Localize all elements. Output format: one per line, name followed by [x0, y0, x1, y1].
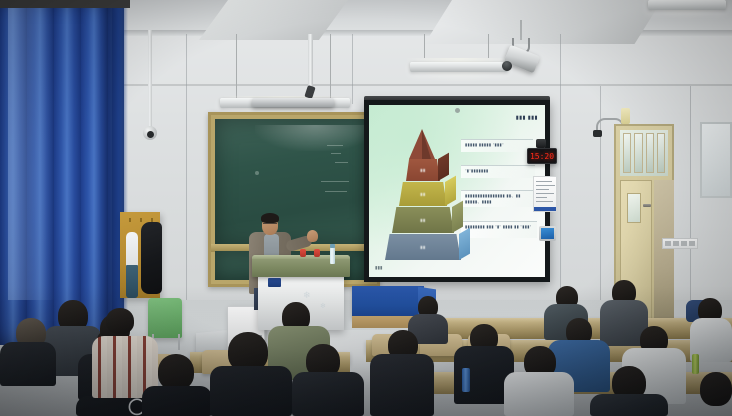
pyramid-tier-4: ▮▮ [385, 234, 461, 260]
pyramid-tier-2: ▮▮ [399, 182, 447, 206]
chalkboard-lamp [252, 98, 334, 107]
tier-4-label: ▮▮ [385, 245, 461, 250]
door-camera [593, 130, 602, 137]
wall-outlets[interactable] [662, 238, 698, 249]
door-window [627, 193, 641, 223]
coat-hook-1 [129, 218, 131, 222]
wall-panel-line-3 [560, 34, 561, 330]
chalk-mark-4 [321, 181, 349, 182]
tier-2-label: ▮▮ [399, 192, 447, 197]
outlet-3 [681, 241, 687, 246]
chair-leg-2 [178, 334, 180, 350]
green-plastic-chair[interactable] [148, 298, 182, 338]
ceiling-soffit-right [425, 0, 662, 44]
wall-panel-line-1 [186, 34, 187, 304]
student-torso [0, 342, 56, 386]
wall-panel-line-5 [690, 86, 691, 330]
clock-time-digits: 15:20 [530, 152, 554, 161]
red-marker-1[interactable] [300, 249, 306, 257]
podium-water-bottle[interactable] [330, 247, 335, 264]
podium-desktop [252, 255, 350, 277]
blue-display-board[interactable] [352, 286, 424, 318]
projected-slide: ▮▮▮ ▮▮▮ ▮▮▮ ▮▮▮▮▮ ▮▮▮▮▮ "▮▮▮" "▮"▮▮▮▮▮▮▮… [369, 105, 545, 277]
pyramid-tier-1: ▮▮ [406, 159, 440, 181]
chalkboard-glare [255, 125, 375, 151]
red-marker-2[interactable] [314, 249, 320, 257]
lecturer-hair [261, 213, 279, 223]
projection-screen[interactable]: ▮▮▮ ▮▮▮ ▮▮▮ ▮▮▮▮▮ ▮▮▮▮▮ "▮▮▮" "▮"▮▮▮▮▮▮▮… [364, 100, 550, 282]
chalkboard-upper-panel [215, 119, 373, 244]
tier-1-label: ▮▮ [406, 168, 440, 173]
tier-3-label: ▮▮ [392, 218, 454, 223]
snowflake-decal-2: ❄ [320, 302, 326, 310]
notice-line-3 [536, 189, 549, 190]
pyramid-callout-4: ▮▮▮▮▮▮▮▮ ▮▮▮ "▮" ▮▮▮▮ ▮▮ "▮▮▮" [461, 221, 537, 238]
hanging-blue-jeans [126, 265, 138, 298]
chalk-mark-3 [335, 162, 348, 163]
door-handle[interactable] [643, 204, 651, 207]
wall-panel-line-2 [352, 34, 353, 104]
outlet-1 [665, 241, 671, 246]
notice-line-2 [536, 185, 555, 186]
transom-pane-2 [634, 133, 642, 173]
outlet-2 [673, 241, 679, 246]
lamp-wire-2 [330, 34, 331, 100]
student-torso [210, 366, 292, 416]
pyramid-callout-3: ▮▮▮▮▮▮▮▮▮▮▮▮▮▮▮▮ ▮▮、▮▮ ▮▮▮▮▮、▮▮▮▮ [461, 190, 537, 207]
notice-line-1 [536, 181, 552, 182]
pyramid-callout-2: "▮"▮▮▮▮▮▮▮ [461, 165, 535, 178]
wall-notice [533, 176, 557, 212]
clock-sensor [536, 139, 546, 148]
student-head [106, 308, 134, 334]
chalk-mark-5 [325, 191, 347, 192]
projector-hook [520, 20, 522, 40]
student-torso [142, 386, 212, 416]
student-head [700, 372, 732, 406]
pyramid-tier-3: ▮▮ [392, 207, 454, 233]
side-window [700, 122, 732, 198]
outlet-4 [689, 241, 695, 246]
door-transom [620, 130, 668, 176]
camera-lens-icon [147, 131, 154, 138]
snowflake-decal-1: ❄ [303, 290, 311, 301]
glasses-icon [263, 223, 277, 226]
student-torso [370, 354, 434, 416]
student-torso [292, 372, 364, 416]
blue-bottle[interactable] [462, 368, 470, 392]
hanging-black-coat [141, 222, 162, 294]
coat-hook-2 [140, 218, 142, 222]
notice-line-4 [536, 193, 554, 194]
lamp-wire-1 [236, 34, 237, 100]
student-head [158, 354, 194, 390]
pyramid-callout-1: ▮▮▮▮▮ ▮▮▮▮▮ "▮▮▮" [461, 139, 533, 152]
touch-panel-screen[interactable] [541, 228, 554, 239]
curtain-rod [0, 0, 130, 8]
ceiling-lamp-3 [648, 0, 726, 10]
chalk-mark-6 [255, 171, 259, 175]
green-tea-bottle[interactable] [692, 354, 699, 374]
transom-pane-4 [657, 133, 665, 173]
slide-title: ▮▮▮ ▮▮▮ [516, 115, 538, 121]
pyramid-apex-shadow [422, 129, 431, 159]
lecture-hall-photo: ▮▮▮ ▮▮▮ ▮▮▮ ▮▮▮▮▮ ▮▮▮▮▮ "▮▮▮" "▮"▮▮▮▮▮▮▮… [0, 0, 732, 416]
chalk-mark-1 [327, 145, 343, 146]
transom-pane-3 [646, 133, 654, 173]
podium-bottle-cap [330, 244, 335, 248]
student-torso [504, 372, 574, 416]
chalk-mark-2 [331, 153, 341, 154]
transom-pane-1 [623, 133, 631, 173]
door-indicator-lamp [621, 108, 630, 124]
notice-line-6 [536, 201, 553, 202]
door-open-gap [654, 180, 674, 324]
student-torso [590, 394, 668, 416]
blue-window-curtain[interactable] [0, 0, 124, 345]
lecturer-hand [307, 230, 318, 242]
lamp-wire-4 [488, 34, 489, 58]
curtain-highlight [8, 0, 54, 300]
ceiling-lamp-2 [410, 62, 508, 72]
av-touch-panel[interactable] [539, 226, 556, 241]
ceiling-pipe [308, 34, 313, 90]
lamp-wire-3 [424, 34, 425, 58]
led-wall-clock: 15:20 [527, 148, 557, 164]
camera-pole [148, 30, 152, 130]
slide-logo: ▮▮▮ [375, 265, 382, 271]
screen-center-dot [455, 108, 460, 113]
notice-line-5 [536, 197, 547, 198]
podium-emblem [268, 278, 281, 287]
pyramid-diagram: ▮▮ ▮▮ ▮▮ ▮▮ [391, 129, 463, 247]
notice-footer-bar [534, 207, 556, 211]
